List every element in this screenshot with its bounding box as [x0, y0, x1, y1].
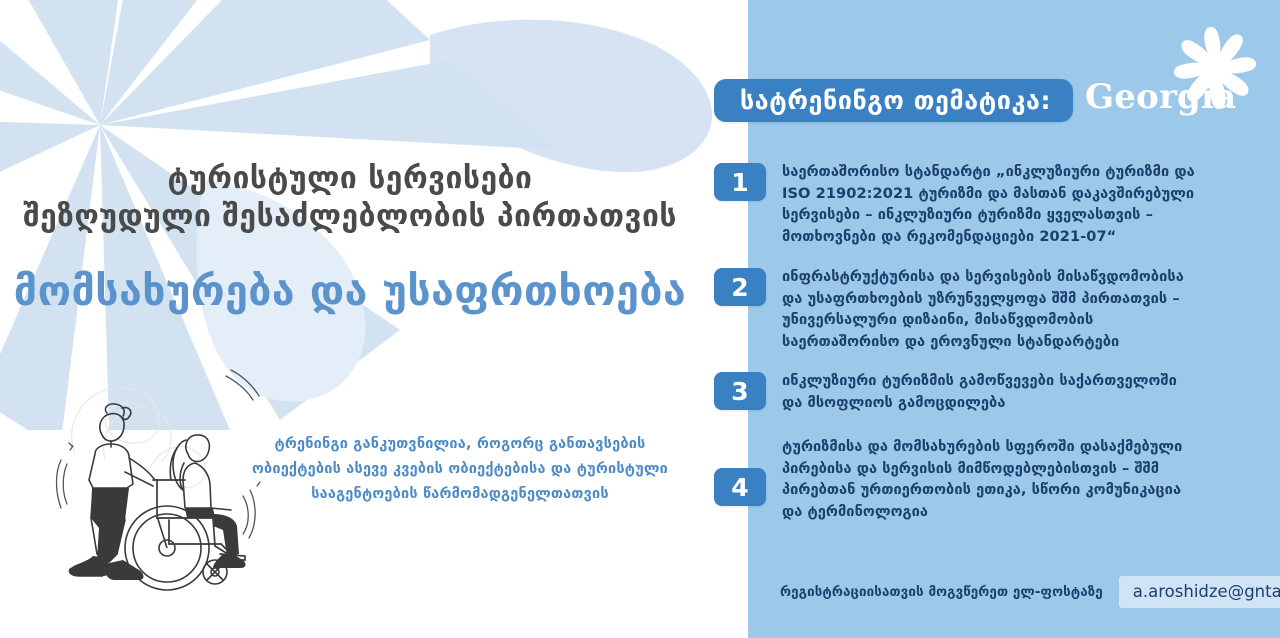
topic-text-2: ინფრასტრუქტურისა და სერვისების მისაწვდომ… [782, 266, 1262, 352]
topic-text-4: ტურიზმისა და მომსახურების სფეროში დასაქმ… [782, 436, 1262, 522]
topic-number-4: 4 [731, 475, 748, 500]
georgia-logo: Georgia [1085, 18, 1270, 138]
topic-number-2: 2 [731, 275, 748, 300]
topic-number-3: 3 [731, 379, 748, 404]
page-title: ტურისტული სერვისები შეზღუდული შესაძლებლო… [0, 160, 700, 316]
topics-banner-label: სატრენინგო თემატიკა: [740, 88, 1051, 113]
title-line-2: შეზღუდული შესაძლებლობის პირთათვის [0, 198, 700, 236]
registration-footer: რეგისტრაციისათვის მოგვწერეთ ელ-ფოსტაზე a… [780, 576, 1280, 608]
registration-label: რეგისტრაციისათვის მოგვწერეთ ელ-ფოსტაზე [780, 585, 1103, 600]
topic-text-3: ინკლუზიური ტურიზმის გამოწვევები საქართვე… [782, 370, 1262, 413]
poster-canvas: ტურისტული სერვისები შეზღუდული შესაძლებლო… [0, 0, 1280, 638]
registration-email: a.aroshidze@gnta.ge [1133, 582, 1280, 601]
description-text: ტრენინგი განკუთვნილია, როგორც განთავსები… [235, 432, 685, 507]
headline: მომსახურება და უსაფრთხოება [0, 267, 700, 316]
registration-email-box[interactable]: a.aroshidze@gnta.ge [1119, 576, 1280, 608]
topic-number-badge-4: 4 [714, 468, 766, 506]
topic-number-1: 1 [731, 170, 748, 195]
topic-number-badge-2: 2 [714, 268, 766, 306]
title-line-1: ტურისტული სერვისები [0, 160, 700, 198]
georgia-wordmark: Georgia [1085, 80, 1245, 114]
topic-number-badge-3: 3 [714, 372, 766, 410]
topics-banner: სატრენინგო თემატიკა: [714, 79, 1073, 122]
topic-text-1: საერთაშორისო სტანდარტი „ინკლუზიური ტურიზ… [782, 161, 1262, 247]
left-content-column: ტურისტული სერვისები შეზღუდული შესაძლებლო… [0, 0, 748, 638]
topic-number-badge-1: 1 [714, 163, 766, 201]
